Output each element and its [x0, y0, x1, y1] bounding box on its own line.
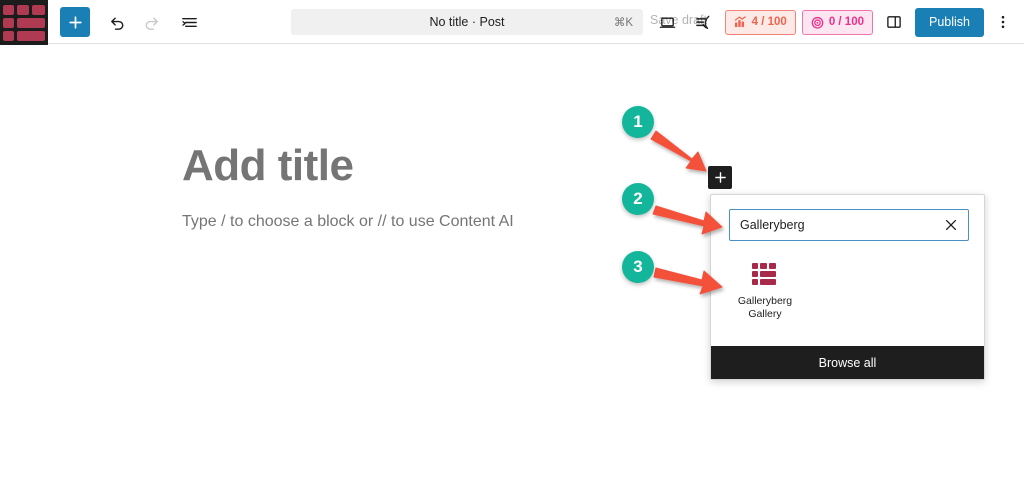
close-x-icon	[945, 219, 957, 231]
block-search-field[interactable]	[729, 209, 969, 241]
sidebar-panel-icon	[885, 13, 903, 31]
list-view-icon	[180, 13, 199, 32]
plus-icon	[714, 171, 727, 184]
undo-arrow-icon	[108, 13, 127, 32]
command-bar-shortcut: ⌘K	[614, 15, 633, 29]
rank-math-seo-icon	[694, 13, 713, 32]
undo-button[interactable]	[102, 7, 132, 37]
result-label-line1: Galleryberg	[738, 295, 792, 308]
plus-icon	[68, 15, 83, 30]
settings-sidebar-button[interactable]	[879, 7, 909, 37]
site-logo-button[interactable]	[0, 0, 48, 45]
kebab-menu-icon	[995, 14, 1011, 30]
redo-arrow-icon	[142, 13, 161, 32]
post-body-paragraph[interactable]: Type / to choose a block or // to use Co…	[182, 213, 514, 231]
preview-button[interactable]	[653, 7, 683, 37]
command-bar-title: No title · Post	[429, 15, 504, 29]
clear-search-button[interactable]	[942, 216, 960, 234]
seo-bar-chart-icon	[734, 16, 747, 28]
block-inserter-toggle[interactable]	[708, 166, 732, 189]
result-label-line2: Gallery	[738, 308, 792, 321]
add-block-button[interactable]	[60, 7, 90, 37]
seo-score-badge[interactable]: 4 / 100	[725, 10, 796, 35]
content-ai-target-icon	[811, 16, 824, 29]
toolbar-right-group: 4 / 100 0 / 100 Publish	[653, 0, 1016, 44]
block-search-input[interactable]	[740, 218, 942, 232]
brick-grid-logo-icon	[2, 3, 46, 43]
galleryberg-gallery-result[interactable]: Galleryberg Gallery	[735, 262, 795, 321]
rank-math-button[interactable]	[689, 7, 719, 37]
editor-top-bar: No title · Post ⌘K Save draft	[0, 0, 1024, 44]
document-overview-button[interactable]	[174, 7, 204, 37]
editor-screen: No title · Post ⌘K Save draft	[0, 0, 1024, 492]
content-ai-score-badge[interactable]: 0 / 100	[802, 10, 873, 35]
post-title-input[interactable]: Add title	[182, 141, 353, 191]
redo-button[interactable]	[136, 7, 166, 37]
seo-score-value: 4 / 100	[752, 16, 787, 28]
block-search-wrapper	[729, 209, 969, 241]
command-bar[interactable]: No title · Post ⌘K	[291, 9, 643, 35]
galleryberg-result-label: Galleryberg Gallery	[738, 295, 792, 321]
galleryberg-brick-icon	[752, 262, 778, 286]
more-options-button[interactable]	[990, 7, 1016, 37]
laptop-preview-icon	[658, 13, 677, 32]
publish-button[interactable]: Publish	[915, 8, 984, 37]
content-ai-score-value: 0 / 100	[829, 16, 864, 28]
browse-all-button[interactable]: Browse all	[711, 346, 984, 379]
toolbar-left-group	[60, 0, 204, 44]
